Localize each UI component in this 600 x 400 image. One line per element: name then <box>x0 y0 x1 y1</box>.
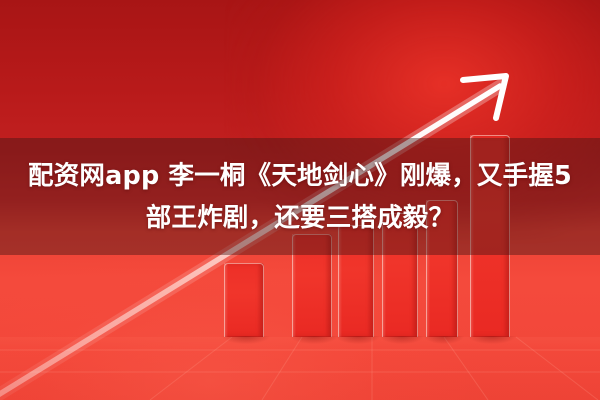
headline-line-1: 配资网app 李一桐《天地剑心》刚爆，又手握5 <box>28 156 572 196</box>
bar-ground-shadow <box>468 336 516 344</box>
headline-line-2: 部王炸剧，还要三搭成毅？ <box>146 198 454 238</box>
banner-canvas: 配资网app 李一桐《天地剑心》刚爆，又手握5 部王炸剧，还要三搭成毅？ <box>0 0 600 400</box>
bar-ground-shadow <box>380 336 424 344</box>
bar-ground-shadow <box>290 336 338 344</box>
bar-ground-shadow <box>222 336 270 344</box>
headline-block: 配资网app 李一桐《天地剑心》刚爆，又手握5 部王炸剧，还要三搭成毅？ <box>0 138 600 255</box>
bar-ground-shadow <box>336 336 380 344</box>
bar-item <box>224 263 264 337</box>
bar-outline <box>224 263 264 337</box>
bar-ground-shadow <box>424 336 464 344</box>
